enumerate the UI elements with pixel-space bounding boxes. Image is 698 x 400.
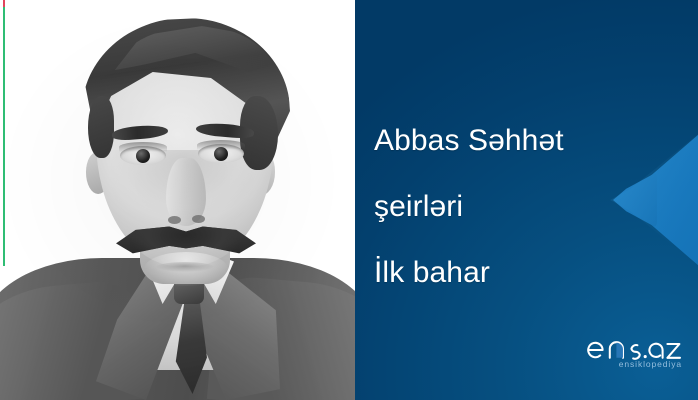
title-panel: Abbas Səhhət şeirləri İlk bahar ensiklop: [355, 0, 698, 400]
portrait-mouth: [156, 262, 214, 272]
portrait-nostril-left: [168, 216, 181, 224]
portrait-eyelid-right: [197, 140, 245, 150]
ens-az-logo[interactable]: ensiklopediya: [587, 332, 683, 378]
ens-az-logo-tagline: ensiklopediya: [619, 359, 682, 369]
headline-section: şeirləri: [374, 192, 674, 222]
portrait-photo: [0, 0, 355, 400]
headline-block: Abbas Səhhət şeirləri İlk bahar: [374, 126, 674, 288]
headline-poem-title: İlk bahar: [374, 258, 674, 288]
portrait-panel: [0, 0, 355, 400]
portrait-sideburn-left: [88, 96, 114, 158]
portrait-eyelid-left: [119, 142, 167, 152]
headline-author: Abbas Səhhət: [374, 126, 674, 156]
portrait-nostril-right: [192, 215, 205, 223]
banner-card: Abbas Səhhət şeirləri İlk bahar ensiklop: [0, 0, 698, 400]
ens-az-wordmark-icon: [587, 332, 683, 362]
